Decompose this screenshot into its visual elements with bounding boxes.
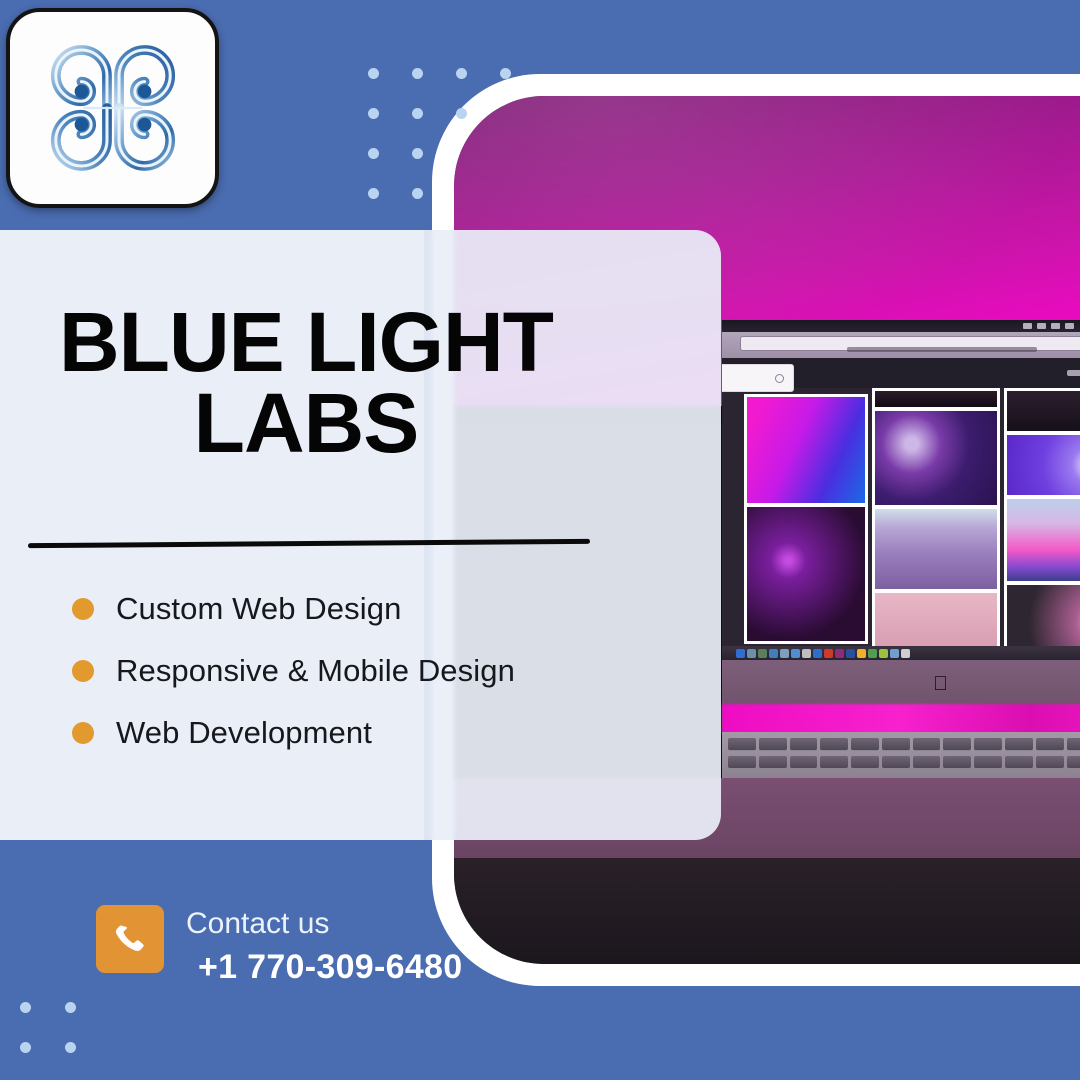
page-title: BLUE LIGHTLABS	[0, 302, 612, 463]
browser-window	[722, 320, 1080, 660]
decorative-dot	[500, 148, 511, 159]
thumb-purple-balloons[interactable]	[872, 408, 1000, 508]
keyboard	[722, 732, 1080, 778]
thumb-lavender-field[interactable]	[872, 506, 1000, 592]
keyboard-backlight-glow	[722, 704, 1080, 734]
site-nav[interactable]	[1067, 368, 1080, 377]
mac-menu-bar	[722, 320, 1080, 332]
page-title-line-1: BLUE LIGHT	[0, 302, 612, 383]
contact-label: Contact us	[186, 907, 462, 942]
decorative-dot	[368, 108, 379, 119]
decorative-dot	[456, 68, 467, 79]
decorative-dot-grid-top	[368, 68, 544, 228]
page-title-strip	[722, 347, 1080, 356]
decorative-dot	[500, 188, 511, 199]
nav-item-explore	[1067, 370, 1080, 376]
mac-dock[interactable]	[722, 646, 1080, 660]
service-label: Custom Web Design	[116, 591, 401, 627]
decorative-dot	[412, 148, 423, 159]
decorative-dot	[412, 108, 423, 119]
bullet-icon	[72, 722, 94, 744]
info-card: BLUE LIGHTLABS Custom Web Design Respons…	[0, 230, 721, 840]
bullet-icon	[72, 598, 94, 620]
apple-logo-icon: 	[933, 674, 951, 694]
service-list: Custom Web Design Responsive & Mobile De…	[72, 578, 632, 764]
title-divider	[28, 539, 590, 548]
list-item: Web Development	[72, 702, 632, 764]
desk-shadow	[454, 858, 1080, 964]
decorative-dot	[368, 188, 379, 199]
contact-phone[interactable]: +1 770-309-6480	[198, 948, 462, 987]
service-label: Responsive & Mobile Design	[116, 653, 515, 689]
phone-icon[interactable]	[96, 905, 164, 973]
page-title-line-2: LABS	[0, 383, 612, 464]
thumb-purple-smoke[interactable]	[744, 394, 868, 506]
image-gallery	[722, 388, 1080, 638]
decorative-dot	[368, 148, 379, 159]
decorative-dot	[20, 1002, 31, 1013]
contact-block[interactable]: Contact us +1 770-309-6480	[96, 905, 462, 987]
decorative-dot	[65, 1002, 76, 1013]
thumb-dark-top-right[interactable]	[1004, 388, 1080, 434]
decorative-dot-grid-bottom	[20, 1002, 110, 1080]
bullet-icon	[72, 660, 94, 682]
decorative-dot	[65, 1042, 76, 1053]
thumb-pink-chrysanthemum[interactable]	[1004, 582, 1080, 650]
decorative-dot	[500, 68, 511, 79]
thumb-pink-house[interactable]	[872, 590, 1000, 650]
thumb-purple-phlox[interactable]	[744, 504, 868, 644]
list-item: Custom Web Design	[72, 578, 632, 640]
decorative-dot	[456, 108, 467, 119]
contact-text: Contact us +1 770-309-6480	[186, 905, 462, 987]
service-label: Web Development	[116, 715, 372, 751]
thumb-water-droplet[interactable]	[1004, 432, 1080, 498]
four-spiral-monogram-icon	[37, 38, 189, 178]
decorative-dot	[412, 68, 423, 79]
decorative-dot	[500, 108, 511, 119]
poster-canvas:  BLUE LIGHTLABS	[0, 0, 1080, 1080]
decorative-dot	[456, 148, 467, 159]
decorative-dot	[456, 188, 467, 199]
thumb-dark-strip[interactable]	[872, 388, 1000, 410]
decorative-dot	[20, 1042, 31, 1053]
decorative-dot	[412, 188, 423, 199]
decorative-dot	[368, 68, 379, 79]
brand-logo-tile[interactable]	[6, 8, 219, 208]
thumb-birds-sunset[interactable]	[1004, 496, 1080, 584]
list-item: Responsive & Mobile Design	[72, 640, 632, 702]
